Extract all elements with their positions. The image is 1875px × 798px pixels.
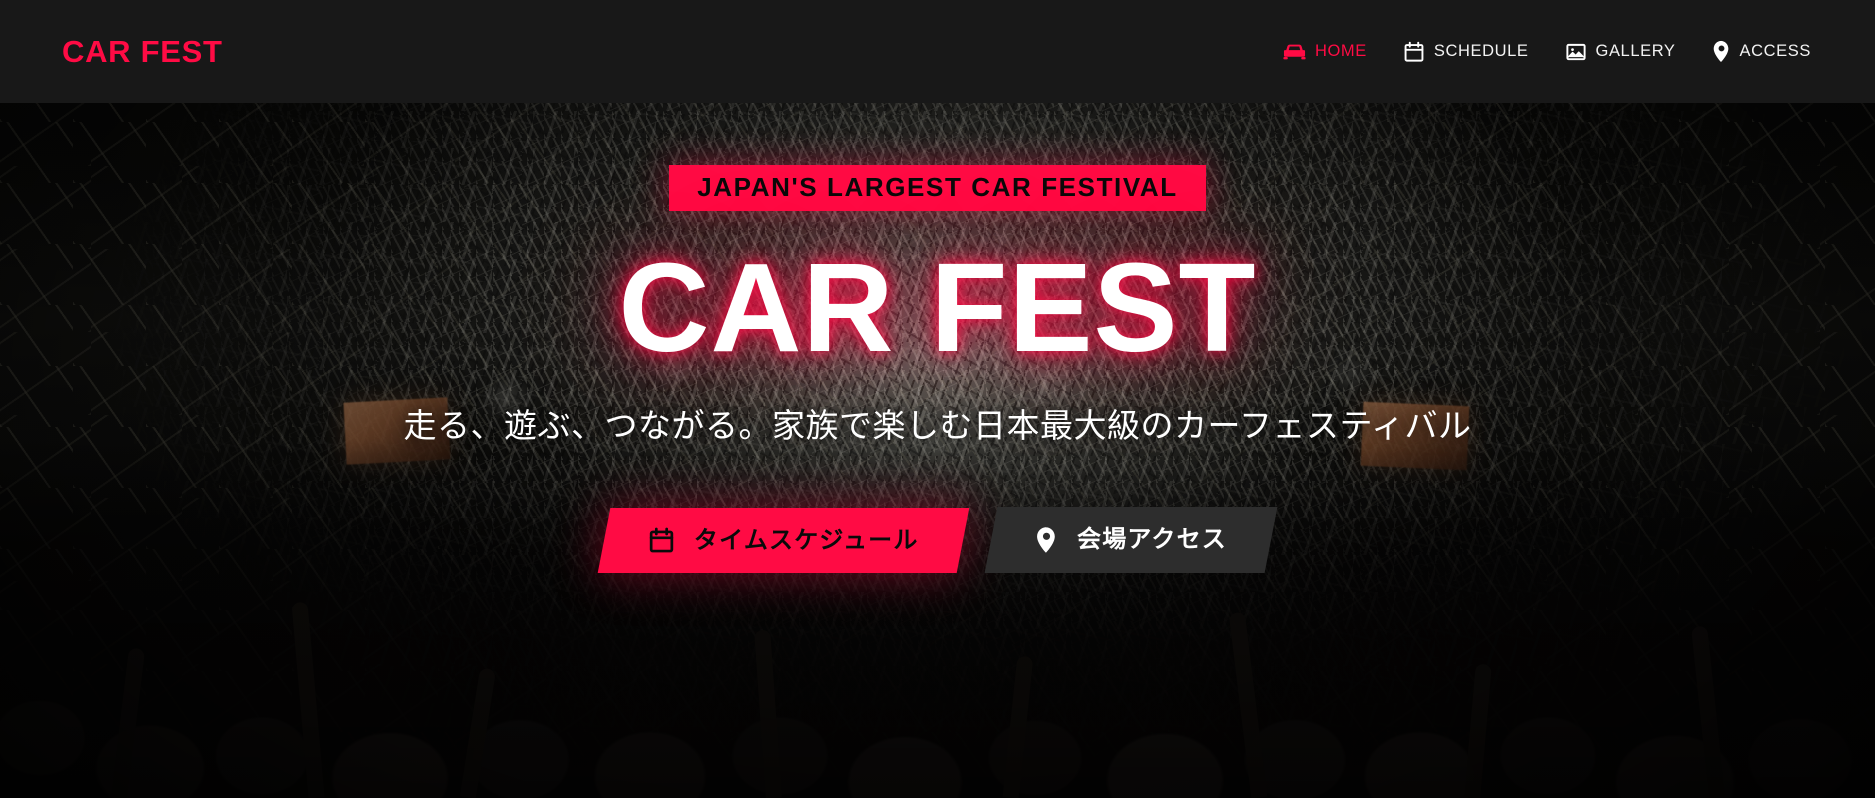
nav-label-gallery: GALLERY <box>1596 42 1676 61</box>
hero-section: JAPAN'S LARGEST CAR FESTIVAL CAR FEST 走る… <box>0 103 1875 798</box>
pin-icon <box>1035 526 1058 554</box>
page-root: CAR FEST HOME <box>0 0 1875 798</box>
nav-item-home[interactable]: HOME <box>1283 42 1367 61</box>
pin-icon <box>1712 40 1731 63</box>
venue-access-button-label: 会場アクセス <box>1077 528 1227 552</box>
nav-item-schedule[interactable]: SCHEDULE <box>1403 41 1529 63</box>
car-icon <box>1283 43 1306 61</box>
venue-access-button[interactable]: 会場アクセス <box>984 507 1277 573</box>
nav-links: HOME SCHEDULE <box>1283 40 1811 63</box>
image-icon <box>1565 41 1587 63</box>
nav-label-access: ACCESS <box>1740 42 1811 61</box>
nav-label-schedule: SCHEDULE <box>1434 42 1529 61</box>
timetable-button[interactable]: タイムスケジュール <box>598 508 969 573</box>
hero-cta-group: タイムスケジュール 会場アクセス <box>604 507 1271 573</box>
site-navbar: CAR FEST HOME <box>0 0 1875 103</box>
hero-badge: JAPAN'S LARGEST CAR FESTIVAL <box>669 165 1206 211</box>
brand-logo[interactable]: CAR FEST <box>62 34 223 70</box>
nav-item-access[interactable]: ACCESS <box>1712 40 1811 63</box>
nav-item-gallery[interactable]: GALLERY <box>1565 41 1676 63</box>
calendar-icon <box>1403 41 1425 63</box>
hero-subtitle: 走る、遊ぶ、つながる。家族で楽しむ日本最大級のカーフェスティバル <box>403 399 1471 447</box>
calendar-icon <box>648 527 675 554</box>
page-title: CAR FEST <box>619 245 1257 371</box>
nav-label-home: HOME <box>1315 42 1367 61</box>
timetable-button-label: タイムスケジュール <box>694 528 919 552</box>
